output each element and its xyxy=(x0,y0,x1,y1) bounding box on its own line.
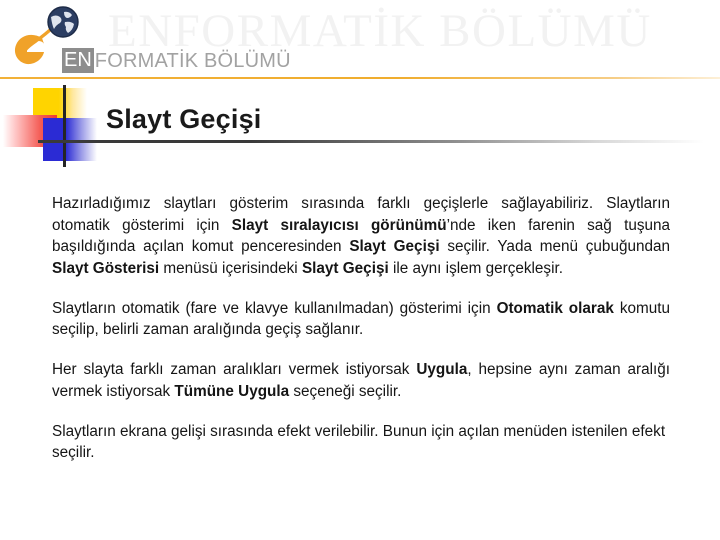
body-paragraph: Slaytların otomatik (fare ve klavye kull… xyxy=(52,298,670,341)
header-divider xyxy=(0,77,720,79)
slide-body: Hazırladığımız slaytları gösterim sırası… xyxy=(52,193,670,464)
page-title: Slayt Geçişi xyxy=(106,104,262,135)
brand-en-box: EN xyxy=(62,48,94,73)
slide-header: ENFORMATİK BÖLÜMÜ EN FORMATİK BÖLÜMÜ xyxy=(0,0,720,79)
title-underline xyxy=(38,140,704,143)
brand-wordmark: EN FORMATİK BÖLÜMÜ xyxy=(62,48,291,73)
body-paragraph: Hazırladığımız slaytları gösterim sırası… xyxy=(52,193,670,279)
body-paragraph: Slaytların ekrana gelişi sırasında efekt… xyxy=(52,421,670,464)
brand-rest-text: FORMATİK BÖLÜMÜ xyxy=(94,50,291,72)
body-paragraph: Her slayta farklı zaman aralıkları verme… xyxy=(52,359,670,402)
decor-vertical-line xyxy=(63,85,66,167)
globe-icon xyxy=(46,5,80,39)
